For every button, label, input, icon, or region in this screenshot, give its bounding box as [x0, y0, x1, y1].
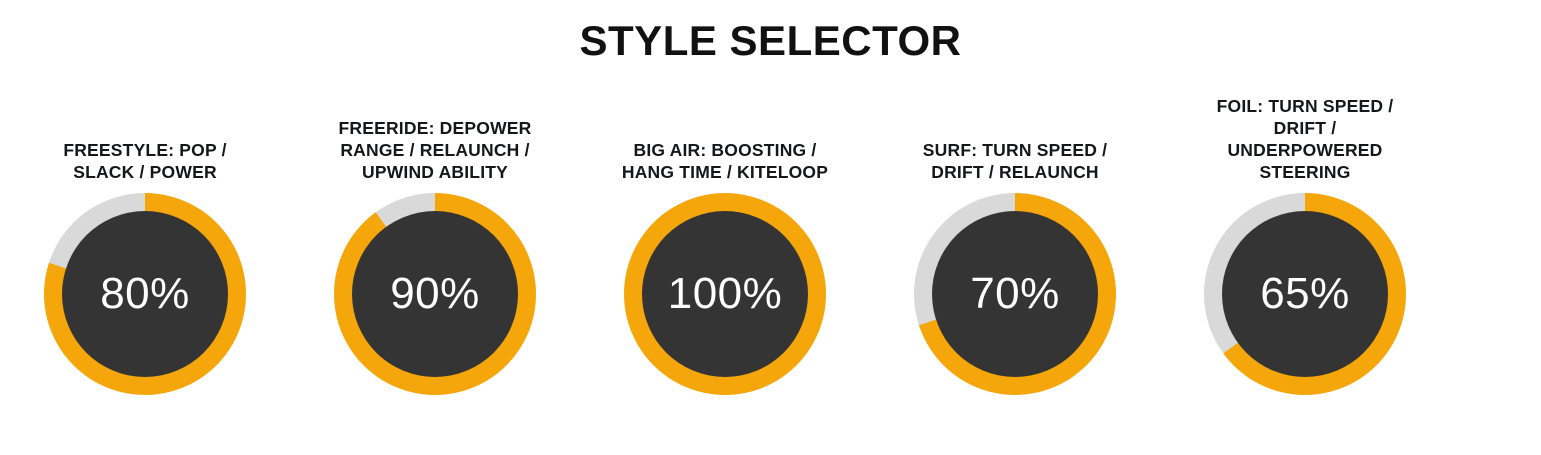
gauge-value-foil: 65%	[1260, 272, 1350, 316]
gauge-hub: 70%	[932, 211, 1098, 377]
donut-gauge-big-air[interactable]: 100%	[624, 193, 826, 395]
style-selector-page: STYLE SELECTOR FREESTYLE: POP / SLACK / …	[0, 0, 1541, 455]
gauge-hub: 100%	[642, 211, 808, 377]
gauge-value-freestyle: 80%	[100, 272, 190, 316]
gauge-label-line: DRIFT / RELAUNCH	[898, 161, 1133, 183]
gauge-label-box: FREERIDE: DEPOWER RANGE / RELAUNCH / UPW…	[318, 66, 553, 183]
gauge-item-freestyle[interactable]: FREESTYLE: POP / SLACK / POWER 80%	[0, 66, 290, 395]
gauge-hub: 90%	[352, 211, 518, 377]
gauge-label-line: DRIFT /	[1188, 117, 1423, 139]
page-title: STYLE SELECTOR	[0, 17, 1541, 65]
gauge-value-big-air: 100%	[668, 272, 783, 316]
gauge-label-line: SURF: TURN SPEED /	[898, 139, 1133, 161]
gauge-label-box: FREESTYLE: POP / SLACK / POWER	[28, 66, 263, 183]
gauge-label-freeride: FREERIDE: DEPOWER RANGE / RELAUNCH / UPW…	[318, 117, 553, 183]
donut-gauge-surf[interactable]: 70%	[914, 193, 1116, 395]
donut-gauge-freeride[interactable]: 90%	[334, 193, 536, 395]
gauge-label-line: SLACK / POWER	[28, 161, 263, 183]
gauge-label-foil: FOIL: TURN SPEED / DRIFT / UNDERPOWERED …	[1188, 95, 1423, 183]
gauge-hub: 80%	[62, 211, 228, 377]
gauge-label-surf: SURF: TURN SPEED / DRIFT / RELAUNCH	[898, 139, 1133, 183]
gauge-row: FREESTYLE: POP / SLACK / POWER 80% FREER…	[0, 66, 1541, 406]
gauge-value-surf: 70%	[970, 272, 1060, 316]
gauge-item-foil[interactable]: FOIL: TURN SPEED / DRIFT / UNDERPOWERED …	[1160, 66, 1450, 395]
gauge-item-big-air[interactable]: BIG AIR: BOOSTING / HANG TIME / KITELOOP…	[580, 66, 870, 395]
gauge-label-line: UPWIND ABILITY	[318, 161, 553, 183]
gauge-hub: 65%	[1222, 211, 1388, 377]
gauge-label-line: UNDERPOWERED	[1188, 139, 1423, 161]
gauge-label-line: HANG TIME / KITELOOP	[608, 161, 843, 183]
gauge-item-freeride[interactable]: FREERIDE: DEPOWER RANGE / RELAUNCH / UPW…	[290, 66, 580, 395]
gauge-label-box: SURF: TURN SPEED / DRIFT / RELAUNCH	[898, 66, 1133, 183]
gauge-label-line: FREERIDE: DEPOWER	[318, 117, 553, 139]
gauge-value-freeride: 90%	[390, 272, 480, 316]
gauge-item-surf[interactable]: SURF: TURN SPEED / DRIFT / RELAUNCH 70%	[870, 66, 1160, 395]
gauge-label-box: BIG AIR: BOOSTING / HANG TIME / KITELOOP	[608, 66, 843, 183]
gauge-label-line: FREESTYLE: POP /	[28, 139, 263, 161]
donut-gauge-foil[interactable]: 65%	[1204, 193, 1406, 395]
gauge-label-line: FOIL: TURN SPEED /	[1188, 95, 1423, 117]
gauge-label-big-air: BIG AIR: BOOSTING / HANG TIME / KITELOOP	[608, 139, 843, 183]
gauge-label-freestyle: FREESTYLE: POP / SLACK / POWER	[28, 139, 263, 183]
gauge-label-box: FOIL: TURN SPEED / DRIFT / UNDERPOWERED …	[1188, 66, 1423, 183]
donut-gauge-freestyle[interactable]: 80%	[44, 193, 246, 395]
gauge-label-line: STEERING	[1188, 161, 1423, 183]
gauge-label-line: RANGE / RELAUNCH /	[318, 139, 553, 161]
gauge-label-line: BIG AIR: BOOSTING /	[608, 139, 843, 161]
